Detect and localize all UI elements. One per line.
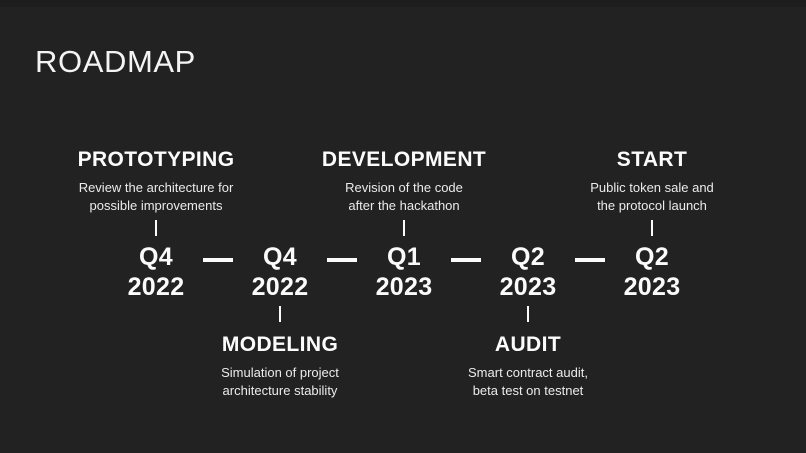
milestone-description-line: Public token sale and bbox=[558, 179, 746, 197]
roadmap-slide: ROADMAP PROTOTYPINGReview the architectu… bbox=[0, 0, 806, 453]
milestone-connector-tick bbox=[403, 220, 405, 236]
milestone-label-block: STARTPublic token sale andthe protocol l… bbox=[558, 148, 746, 215]
milestone-date: Q22023 bbox=[572, 242, 732, 302]
top-edge-band bbox=[0, 0, 806, 7]
milestone-quarter: Q2 bbox=[572, 242, 732, 272]
milestone-year: 2023 bbox=[572, 272, 732, 302]
milestone-description-line: the protocol launch bbox=[558, 197, 746, 215]
milestone-title: START bbox=[558, 148, 746, 172]
milestone-connector-tick bbox=[527, 306, 529, 322]
roadmap-timeline: PROTOTYPINGReview the architecture forpo… bbox=[0, 128, 806, 418]
milestone-connector-tick bbox=[155, 220, 157, 236]
milestone-description: Public token sale andthe protocol launch bbox=[558, 179, 746, 215]
page-title: ROADMAP bbox=[35, 44, 196, 80]
milestone-connector-tick bbox=[651, 220, 653, 236]
milestone-connector-tick bbox=[279, 306, 281, 322]
milestone-start[interactable]: STARTPublic token sale andthe protocol l… bbox=[572, 128, 732, 418]
